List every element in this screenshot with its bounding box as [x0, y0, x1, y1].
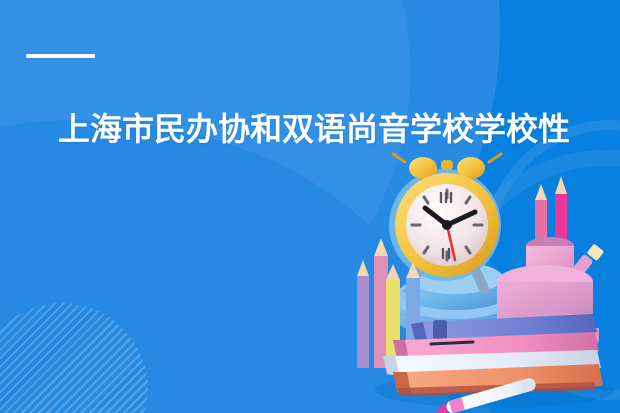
book-stack	[383, 314, 603, 396]
pencil-pink-tall	[374, 238, 388, 368]
title-divider	[26, 54, 95, 58]
page-title: 上海市民办协和双语尚音学校学校性	[58, 108, 588, 150]
pencil-purple	[357, 260, 369, 368]
alarm-clock	[395, 173, 499, 277]
banner-card: 上海市民办协和双语尚音学校学校性	[0, 0, 620, 413]
school-supplies-illustration	[345, 150, 620, 413]
